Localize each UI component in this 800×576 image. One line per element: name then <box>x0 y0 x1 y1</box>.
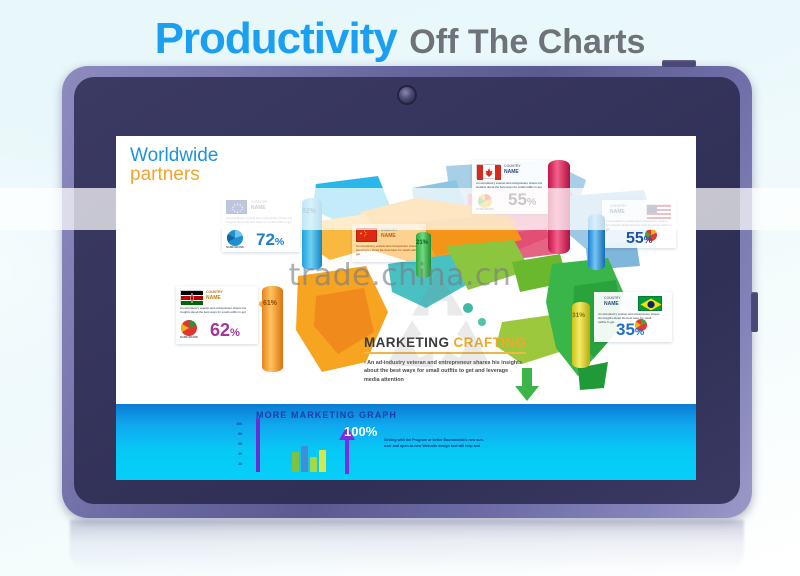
device-reflection <box>70 520 744 572</box>
badge-brazil[interactable]: COUNTRY NAME An ad-industry veteran and … <box>594 292 672 342</box>
volume-button[interactable] <box>751 292 758 332</box>
flag-eu-icon <box>226 200 247 214</box>
badge-percent-value: 55 <box>508 190 527 209</box>
bottom-graph-note: Getting with the Program or better Macro… <box>384 438 484 450</box>
bar-canada <box>548 160 570 254</box>
marketing-heading-a: MARKETING <box>364 335 449 350</box>
bottom-graph-axis: 100 80 60 40 20 <box>216 422 242 472</box>
bar-brazil-label: 31% <box>572 312 585 319</box>
pie-chart-icon <box>180 319 198 337</box>
badge-pie-label: NAME BRAND <box>474 208 496 212</box>
infographic-title-line2: partners <box>130 165 218 184</box>
badge-label-small: COUNTRY <box>604 296 621 300</box>
marketing-body: - An ad-industry veteran and entrepreneu… <box>364 359 524 384</box>
graph-bar-tall <box>256 418 260 472</box>
badge-canada[interactable]: COUNTRY NAME An ad-industry veteran and … <box>472 160 552 214</box>
badge-percent: 55% <box>508 190 536 210</box>
badge-china[interactable]: COUNTRY NAME An ad-industry veteran and … <box>352 224 426 262</box>
badge-percent-value: 62 <box>210 320 230 340</box>
badge-percent-value: 35 <box>616 320 635 339</box>
bottom-graph-panel: MORE MARKETING GRAPH 100 80 60 40 20 100… <box>116 404 696 480</box>
badge-label-big: NAME <box>610 209 625 215</box>
marketing-heading-b: CRAFTING <box>454 335 527 350</box>
bar-kenya <box>262 286 283 372</box>
axis-tick: 60 <box>216 442 242 452</box>
badge-europe[interactable]: COUNTRY NAME An ad-industry veteran and … <box>222 196 300 252</box>
infographic-title-line1: Worldwide <box>130 146 218 165</box>
flag-br-icon <box>638 296 662 311</box>
bar-china <box>416 232 431 278</box>
graph-bar-1 <box>292 452 299 472</box>
flag-ke-icon <box>180 290 202 304</box>
power-button[interactable] <box>662 60 696 67</box>
badge-usa[interactable]: COUNTRY NAME An ad-industry veteran and … <box>602 200 676 248</box>
badge-kenya[interactable]: COUNTRY NAME An ad-industry veteran and … <box>176 286 258 344</box>
front-camera-icon <box>399 87 415 103</box>
infographic-title: Worldwide partners <box>130 146 218 185</box>
axis-tick: 100 <box>216 422 242 432</box>
badge-label-big: NAME <box>604 301 619 307</box>
down-arrow-icon <box>514 368 540 402</box>
badge-label-small: COUNTRY <box>206 290 223 294</box>
graph-bar-3 <box>310 457 317 472</box>
badge-percent-value: 55 <box>626 230 644 247</box>
tablet-device: Worldwide partners COUNTRY NAME An ad-in… <box>62 66 752 518</box>
world-map: Worldwide partners COUNTRY NAME An ad-in… <box>116 136 696 404</box>
axis-tick: 20 <box>216 462 242 472</box>
badge-label-small: COUNTRY <box>381 228 398 232</box>
badge-pie-label: NAME BRAND <box>224 246 246 250</box>
badge-label-big: NAME <box>504 169 519 175</box>
badge-label-small: COUNTRY <box>251 200 268 204</box>
pie-chart-icon <box>477 193 493 209</box>
bottom-graph-title: MORE MARKETING GRAPH <box>256 410 397 420</box>
pie-chart-icon <box>226 229 244 247</box>
badge-label-small: COUNTRY <box>610 204 627 208</box>
headline-rest: Off The Charts <box>409 23 645 61</box>
badge-description: An ad-industry veteran and entrepreneur … <box>476 182 546 190</box>
axis-tick: 80 <box>216 432 242 442</box>
headline-accent: Productivity <box>155 14 397 63</box>
badge-percent: 72% <box>256 230 284 250</box>
bar-usa <box>588 214 605 270</box>
badge-description: An ad-industry veteran and entrepreneur … <box>180 307 254 315</box>
badge-percent: 55% <box>626 230 653 248</box>
badge-percent: 62% <box>210 320 240 341</box>
badge-pie-label: NAME BRAND <box>178 336 200 340</box>
flag-ca-icon <box>476 164 500 179</box>
badge-percent: 35% <box>616 320 644 340</box>
marketing-heading: MARKETING CRAFTING <box>364 335 526 354</box>
bar-europe-label: 82% <box>302 208 316 215</box>
page-title: Productivity Off The Charts <box>0 14 800 64</box>
badge-label-big: NAME <box>206 295 221 301</box>
badge-label-big: NAME <box>381 233 396 239</box>
badge-description: An ad-industry veteran and entrepreneur … <box>356 245 422 257</box>
flag-cn-icon <box>356 228 377 242</box>
badge-description: An ad-industry veteran and entrepreneur … <box>226 217 296 225</box>
badge-label-small: COUNTRY <box>504 164 521 168</box>
tablet-screen[interactable]: Worldwide partners COUNTRY NAME An ad-in… <box>116 136 696 480</box>
graph-bar-4 <box>319 450 326 472</box>
bottom-graph-value: 100% <box>344 424 377 439</box>
badge-percent-value: 72 <box>256 230 275 249</box>
bar-china-label: 21% <box>416 240 428 246</box>
flag-us-icon <box>646 204 670 218</box>
badge-label-big: NAME <box>251 205 266 211</box>
graph-bar-2 <box>301 446 308 472</box>
bar-kenya-label: 61% <box>263 300 277 307</box>
axis-tick: 40 <box>216 452 242 462</box>
